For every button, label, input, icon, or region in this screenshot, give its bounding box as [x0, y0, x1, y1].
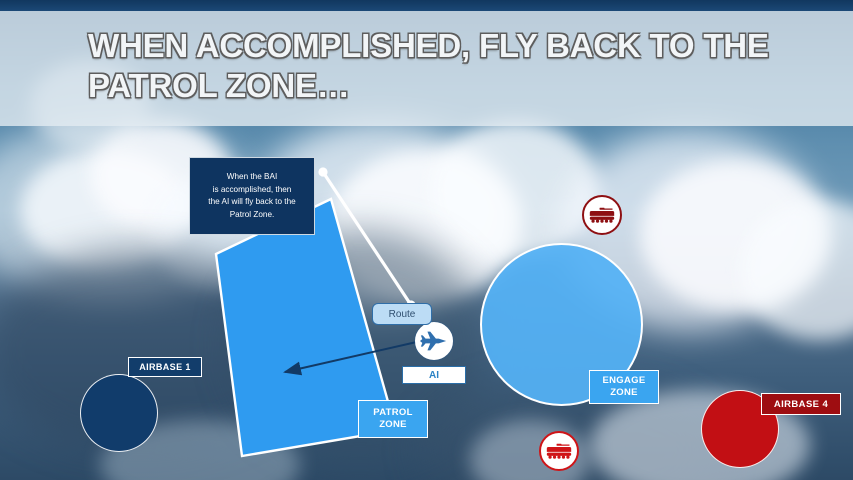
- page-title-line-2: PATROL ZONE…: [88, 66, 788, 106]
- route-label[interactable]: Route: [372, 303, 432, 325]
- armored-vehicle-icon: [546, 442, 572, 460]
- enemy-armored-unit-north[interactable]: [582, 195, 622, 235]
- airbase-4-label[interactable]: AIRBASE 4: [761, 393, 841, 415]
- engage-zone-label[interactable]: ENGAGE ZONE: [589, 370, 659, 404]
- page-title-line-1: WHEN ACCOMPLISHED, FLY BACK TO THE: [88, 26, 788, 66]
- callout-line-4: Patrol Zone.: [190, 209, 314, 222]
- ai-label[interactable]: AI: [402, 366, 466, 384]
- callout-line-3: the AI will fly back to the: [190, 196, 314, 209]
- top-sky-strip: [0, 0, 853, 11]
- airbase-1-circle: [80, 374, 158, 452]
- airbase-1-label[interactable]: AIRBASE 1: [128, 357, 202, 377]
- patrol-zone-label-line-2: ZONE: [373, 419, 412, 431]
- patrol-zone-label[interactable]: PATROL ZONE: [358, 400, 428, 438]
- callout-line-1: When the BAI: [190, 171, 314, 184]
- patrol-zone-label-line-1: PATROL: [373, 407, 412, 419]
- page-title: WHEN ACCOMPLISHED, FLY BACK TO THE PATRO…: [88, 26, 788, 106]
- callout-line-2: is accomplished, then: [190, 184, 314, 197]
- engage-zone-label-line-2: ZONE: [603, 387, 646, 399]
- slide-canvas: WHEN ACCOMPLISHED, FLY BACK TO THE PATRO…: [0, 0, 853, 480]
- fighter-jet-icon: [419, 326, 449, 356]
- engage-zone-label-line-1: ENGAGE: [603, 375, 646, 387]
- enemy-armored-unit-south[interactable]: [539, 431, 579, 471]
- armored-vehicle-icon: [589, 206, 615, 224]
- ai-aircraft-marker[interactable]: [415, 322, 453, 360]
- explanation-callout: When the BAI is accomplished, then the A…: [189, 157, 315, 235]
